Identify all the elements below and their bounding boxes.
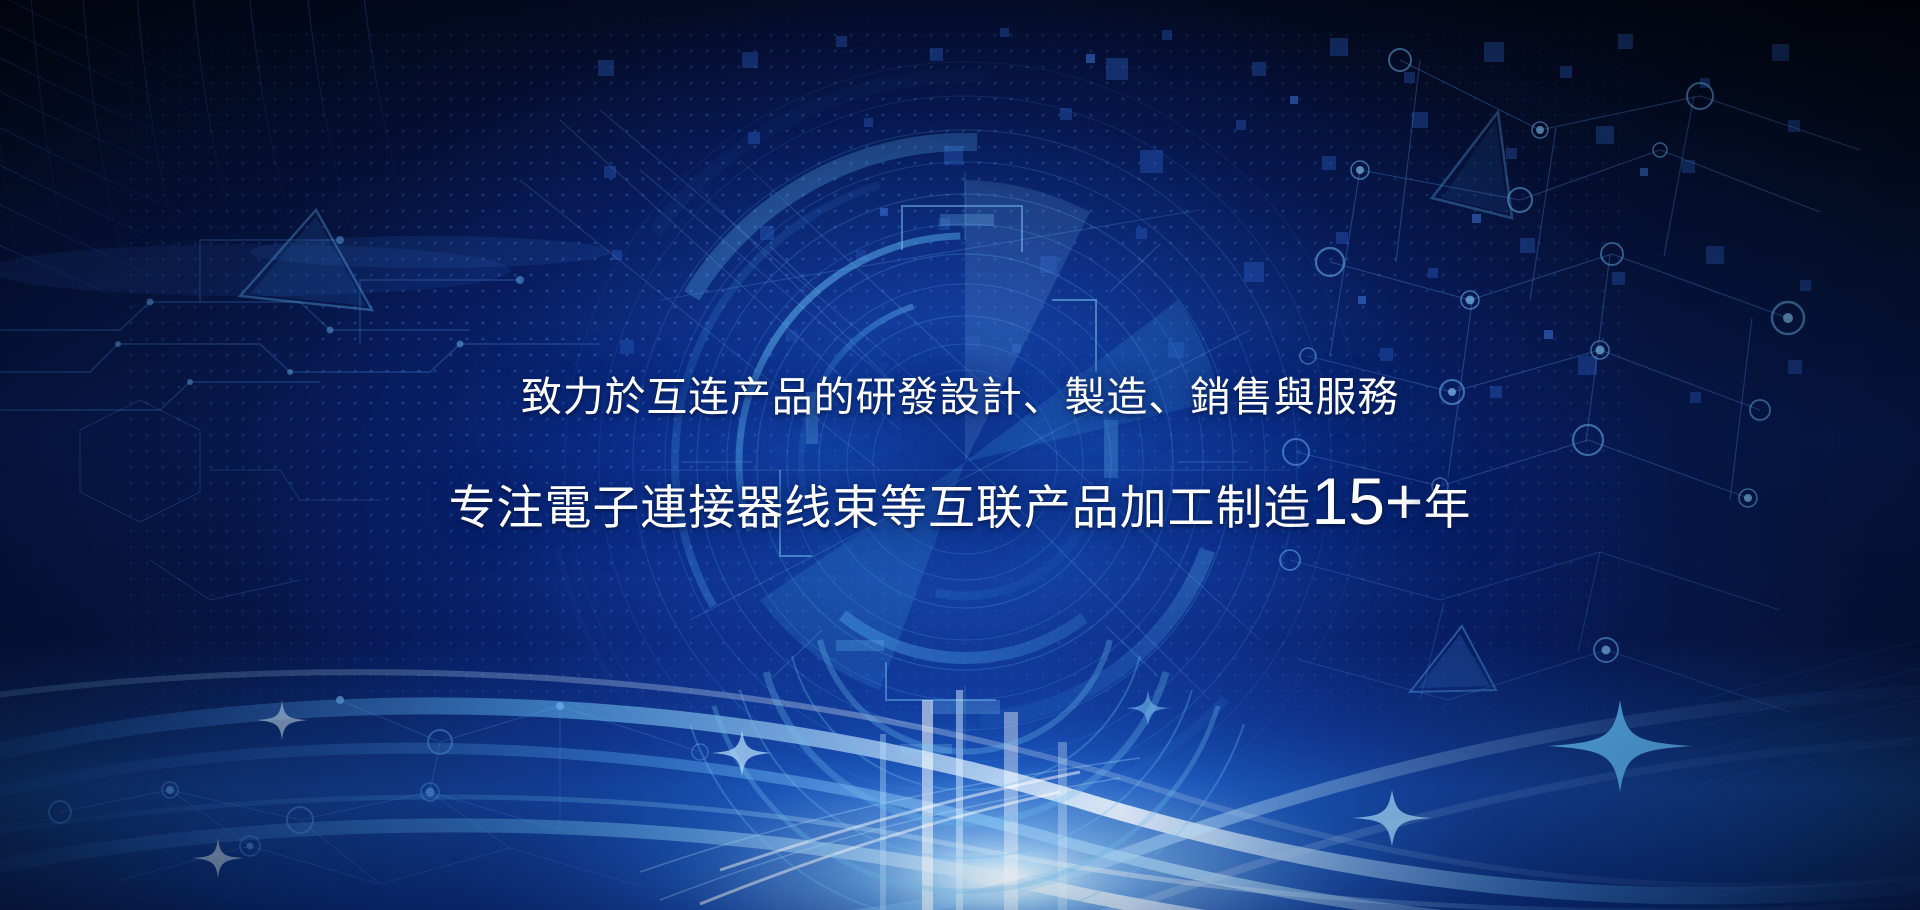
- headline-secondary-suffix: 年: [1423, 484, 1471, 531]
- headline-primary: 致力於互连产品的研發設計、製造、銷售與服務: [521, 377, 1399, 418]
- headline-secondary: 专注電子連接器线束等互联产品加工制造 15+ 年: [449, 468, 1472, 534]
- headline-years-number: 15+: [1312, 468, 1424, 534]
- headline-group: 致力於互连产品的研發設計、製造、銷售與服務 专注電子連接器线束等互联产品加工制造…: [0, 0, 1920, 910]
- hero-banner: 致力於互连产品的研發設計、製造、銷售與服務 专注電子連接器线束等互联产品加工制造…: [0, 0, 1920, 910]
- headline-secondary-prefix: 专注電子連接器线束等互联产品加工制造: [449, 484, 1312, 531]
